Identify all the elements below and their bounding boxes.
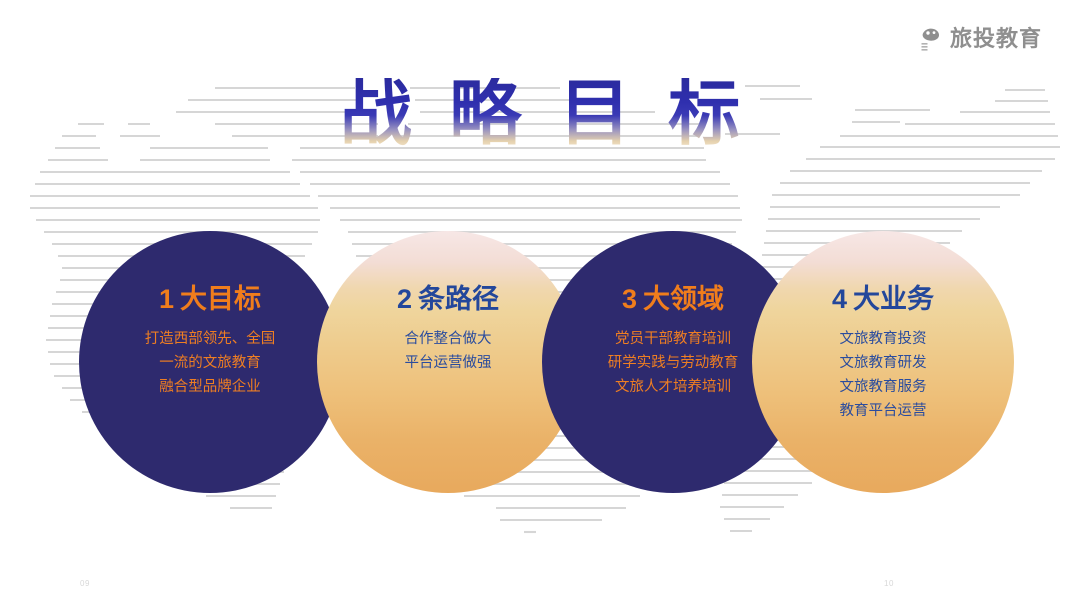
circle-4-body: 文旅教育投资 文旅教育研发 文旅教育服务 教育平台运营 bbox=[840, 327, 927, 423]
circle-4-heading: 4大业务 bbox=[832, 286, 934, 313]
circle-4-line-4: 教育平台运营 bbox=[840, 399, 927, 423]
page-number-right: 10 bbox=[884, 579, 894, 588]
page-number-left: 09 bbox=[80, 579, 90, 588]
circle-2-number: 2 bbox=[397, 284, 412, 314]
circle-1-line-1: 打造西部领先、全国 bbox=[145, 327, 276, 351]
circle-2-title: 条路径 bbox=[418, 284, 499, 314]
circle-2-body: 合作整合做大 平台运营做强 bbox=[405, 327, 492, 375]
circle-1-number: 1 bbox=[159, 284, 174, 314]
circle-1-line-2: 一流的文旅教育 bbox=[145, 351, 276, 375]
circle-3-number: 3 bbox=[622, 284, 637, 314]
circle-4-line-3: 文旅教育服务 bbox=[840, 375, 927, 399]
circle-3-line-3: 文旅人才培养培训 bbox=[608, 375, 739, 399]
circle-item-4[interactable]: 4大业务 文旅教育投资 文旅教育研发 文旅教育服务 教育平台运营 bbox=[752, 231, 1014, 493]
circle-3-title: 大领域 bbox=[643, 284, 724, 314]
circle-1-body: 打造西部领先、全国 一流的文旅教育 融合型品牌企业 bbox=[145, 327, 276, 399]
circle-2-heading: 2条路径 bbox=[397, 286, 499, 313]
circle-1-title: 大目标 bbox=[180, 284, 261, 314]
circle-4-line-2: 文旅教育研发 bbox=[840, 351, 927, 375]
circle-1-heading: 1大目标 bbox=[159, 286, 261, 313]
circle-item-1[interactable]: 1大目标 打造西部领先、全国 一流的文旅教育 融合型品牌企业 bbox=[79, 231, 341, 493]
circle-4-title: 大业务 bbox=[853, 284, 934, 314]
circle-item-2[interactable]: 2条路径 合作整合做大 平台运营做强 bbox=[317, 231, 579, 493]
circle-3-heading: 3大领域 bbox=[622, 286, 724, 313]
circle-1-line-3: 融合型品牌企业 bbox=[145, 375, 276, 399]
circle-3-line-1: 党员干部教育培训 bbox=[608, 327, 739, 351]
circle-3-line-2: 研学实践与劳动教育 bbox=[608, 351, 739, 375]
circle-2-line-1: 合作整合做大 bbox=[405, 327, 492, 351]
circle-group: 1大目标 打造西部领先、全国 一流的文旅教育 融合型品牌企业 2条路径 合作整合… bbox=[0, 0, 1080, 608]
circle-2-line-2: 平台运营做强 bbox=[405, 351, 492, 375]
circle-3-body: 党员干部教育培训 研学实践与劳动教育 文旅人才培养培训 bbox=[608, 327, 739, 399]
circle-4-line-1: 文旅教育投资 bbox=[840, 327, 927, 351]
slide: 旅投教育 战略目标 1大目标 打造西部领先、全国 一流的文旅教育 融合型品牌企业… bbox=[0, 0, 1080, 608]
circle-4-number: 4 bbox=[832, 284, 847, 314]
